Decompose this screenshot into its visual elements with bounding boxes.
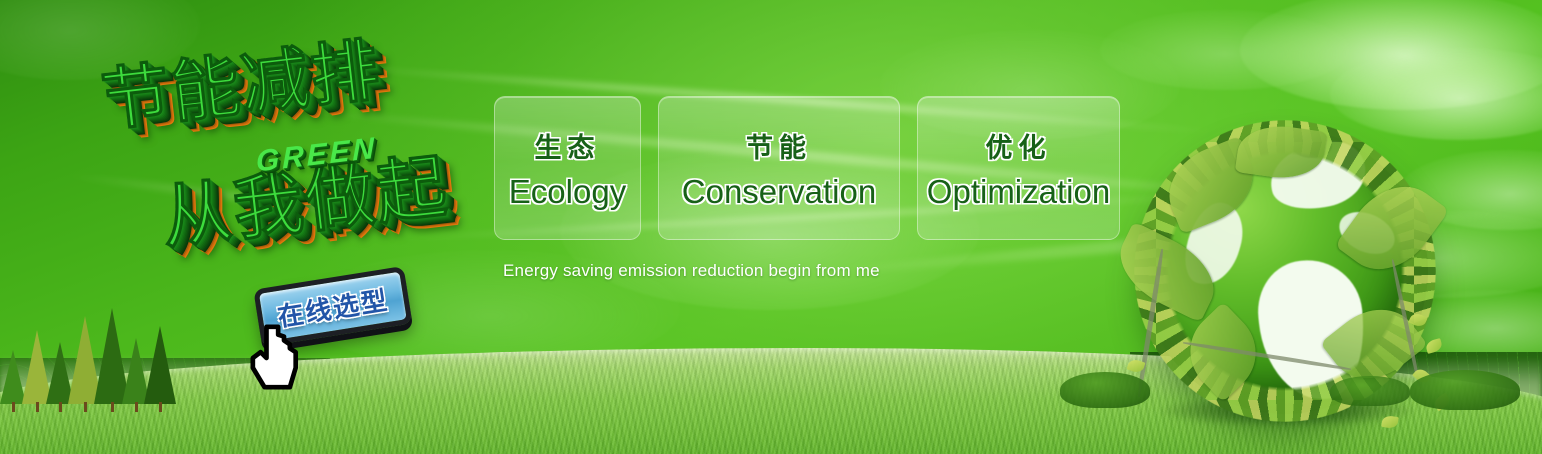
cloud-icon [1100, 10, 1350, 90]
feature-card-conservation[interactable]: 节能 Conservation [658, 96, 900, 240]
eco-hero-banner: 节能减排 GREEN 从我做起 在线选型 生态 Ecology 节能 Conse… [0, 0, 1542, 454]
feature-card-en-label: Optimization [927, 173, 1110, 211]
conifer-trees-icon [0, 308, 176, 412]
feature-card-cn-label: 节能 [746, 126, 812, 165]
feature-card-optimization[interactable]: 优化 Optimization [917, 96, 1120, 240]
feature-card-cn-label: 优化 [986, 126, 1052, 165]
hand-pointer-icon [242, 321, 310, 395]
cloud-icon [1240, 0, 1542, 110]
feature-card-list: 生态 Ecology 节能 Conservation 优化 Optimizati… [494, 96, 1120, 240]
shrub [1330, 376, 1410, 406]
falling-leaf [1425, 338, 1444, 354]
shrub [1060, 372, 1150, 408]
feature-card-en-label: Ecology [509, 173, 626, 211]
falling-leaf [1381, 415, 1399, 429]
online-selection-button[interactable]: 在线选型 [253, 263, 432, 363]
feature-card-ecology[interactable]: 生态 Ecology [494, 96, 641, 240]
headline-3d: 节能减排 GREEN 从我做起 [92, 22, 515, 296]
shrub [1410, 370, 1520, 410]
cloud-icon [1330, 48, 1542, 140]
feature-card-en-label: Conservation [682, 173, 876, 211]
feature-card-cn-label: 生态 [535, 126, 601, 165]
headline-line-1: 节能减排 [98, 22, 497, 136]
tagline: Energy saving emission reduction begin f… [503, 261, 880, 281]
